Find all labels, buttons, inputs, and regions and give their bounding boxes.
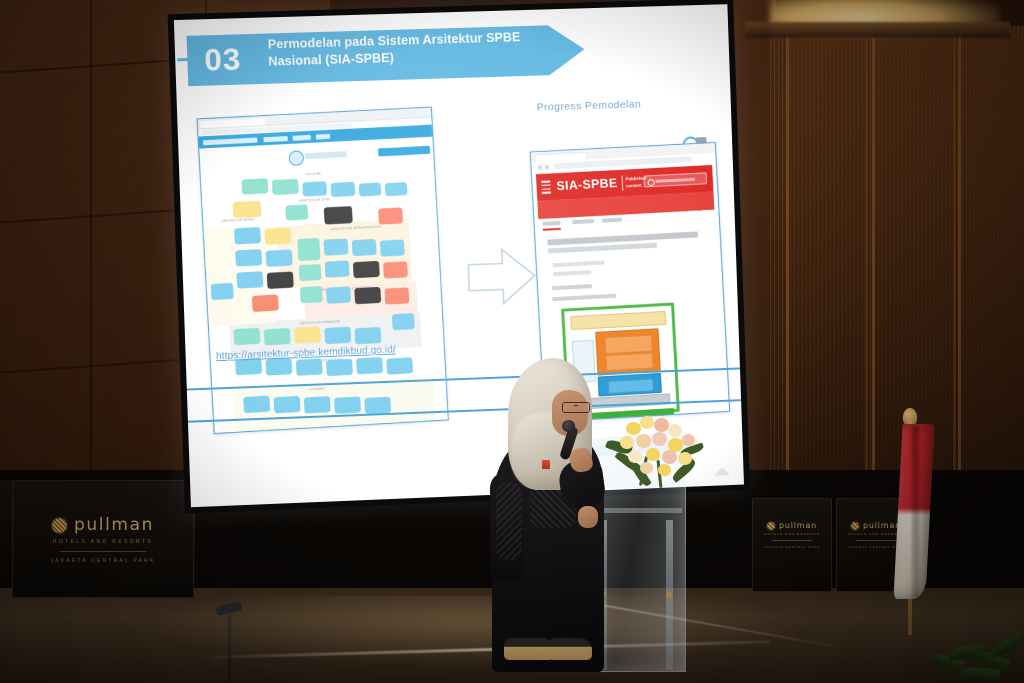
browser-back-icon[interactable]	[537, 164, 542, 169]
search-placeholder	[655, 177, 695, 182]
content-search-input[interactable]	[643, 172, 707, 187]
page-meta-line-1	[553, 260, 605, 266]
browser-forward-icon[interactable]	[544, 164, 549, 169]
slide-number-badge: 03	[187, 34, 260, 86]
portal-title-placeholder	[305, 151, 348, 159]
speaker-person	[486, 352, 618, 672]
flower-bouquet	[612, 412, 704, 490]
portal-logo-icon	[288, 150, 304, 166]
ceiling-lip	[745, 22, 1010, 38]
microphone-head-icon	[562, 420, 575, 432]
pullman-logo-icon	[767, 522, 775, 530]
browser-tab	[200, 118, 265, 128]
pullman-location: JAKARTA CENTRAL PARK	[13, 558, 193, 564]
pullman-tagline: HOTELS AND RESORTS	[13, 539, 193, 545]
screenshot-root: pullman HOTELS AND RESORTS JAKARTA CENTR…	[0, 0, 1024, 683]
speaker-hand-lower	[578, 506, 598, 528]
model-header-block	[570, 311, 666, 330]
pullman-brand-panel-large: pullman HOTELS AND RESORTS JAKARTA CENTR…	[12, 480, 194, 598]
microphone-stand	[228, 610, 231, 682]
slide-number: 03	[204, 41, 242, 78]
search-icon	[647, 179, 654, 186]
banner-divider	[622, 176, 624, 191]
section-label-2	[553, 294, 617, 301]
speaker-shoe-left	[504, 638, 554, 660]
sleeve-lace-detail	[496, 482, 522, 560]
pullman-logo-icon	[851, 522, 859, 530]
speaker-shoe-right	[548, 638, 592, 660]
brand-divider	[856, 540, 896, 541]
page-meta-line-2	[553, 270, 591, 276]
pullman-wordmark: pullman	[779, 521, 817, 530]
wood-panel-1	[786, 34, 868, 534]
transition-arrow-icon	[466, 244, 538, 308]
pullman-logo-icon	[52, 518, 67, 533]
sia-spbe-title: SIA-SPBE	[556, 176, 618, 193]
pullman-brand-panel-small-1: pullman HOTELS AND RESORTS JAKARTA CENTR…	[752, 498, 832, 592]
portal-cta-button[interactable]	[378, 146, 430, 157]
pullman-location: JAKARTA CENTRAL PARK	[753, 545, 831, 549]
brand-divider	[60, 551, 146, 552]
brand-divider	[772, 540, 812, 541]
section-label-1	[552, 284, 592, 290]
pullman-tagline: HOTELS AND RESORTS	[753, 532, 831, 536]
eyeglasses	[562, 402, 590, 413]
pullman-wordmark: pullman	[74, 515, 154, 535]
slide-subtitle: Progress Pemodelan	[537, 98, 642, 113]
wood-panel-3	[958, 34, 1024, 534]
name-badge	[542, 460, 550, 469]
decorative-plant	[930, 626, 1024, 683]
footer-triangle-icon	[714, 467, 730, 476]
podium-fitting-right	[666, 592, 672, 598]
pullman-wordmark: pullman	[863, 521, 901, 530]
hamburger-menu-icon[interactable]	[541, 180, 551, 193]
architecture-diagram: SIA-SPBE ARSITEKTUR SPBE ARSITEKTUR BISN…	[201, 162, 448, 433]
flag-fold-shadow	[912, 426, 919, 598]
